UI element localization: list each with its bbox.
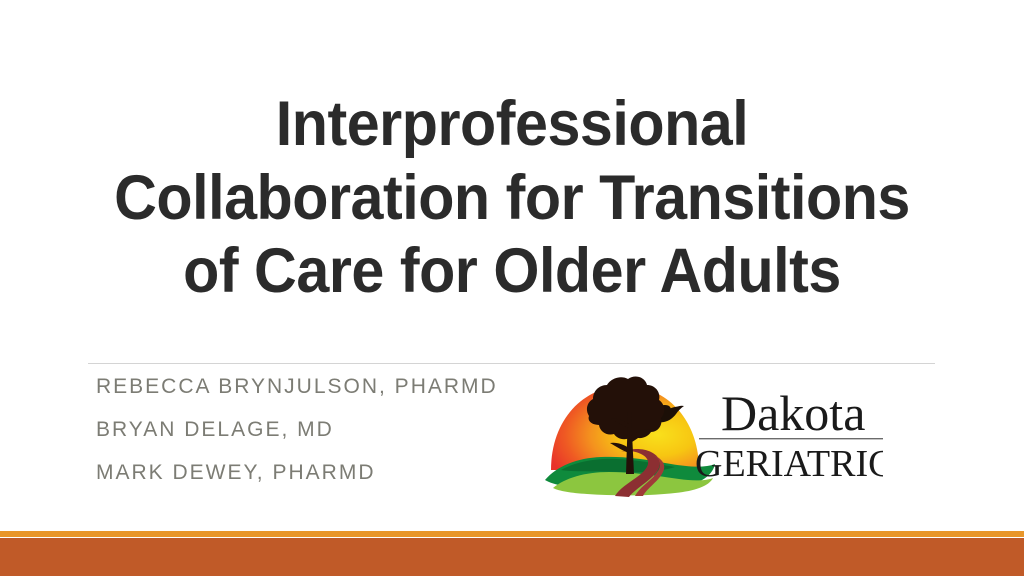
dakota-geriatrics-logo: Dakota GERIATRICS	[543, 372, 883, 497]
footer-accent-stripe	[0, 531, 1024, 537]
title-line-1: Interprofessional	[276, 89, 748, 159]
list-item: BRYAN DELAGE, MD	[96, 419, 526, 440]
title-line-3: of Care for Older Adults	[183, 236, 841, 306]
logo-wordmark-primary: Dakota	[721, 385, 865, 441]
footer-band	[0, 538, 1024, 576]
presenter-list: REBECCA BRYNJULSON, PHARMD BRYAN DELAGE,…	[96, 376, 526, 483]
title-block: Interprofessional Collaboration for Tran…	[88, 88, 936, 309]
list-item: MARK DEWEY, PHARMD	[96, 462, 526, 483]
title-line-2: Collaboration for Transitions	[114, 163, 910, 233]
logo-wordmark-rule	[699, 438, 883, 439]
presentation-slide: Interprofessional Collaboration for Tran…	[0, 0, 1024, 576]
logo-wordmark-secondary: GERIATRICS	[695, 443, 883, 485]
page-title: Interprofessional Collaboration for Tran…	[113, 88, 910, 309]
subtitle-area: REBECCA BRYNJULSON, PHARMD BRYAN DELAGE,…	[88, 372, 936, 502]
divider-rule	[88, 363, 935, 364]
list-item: REBECCA BRYNJULSON, PHARMD	[96, 376, 526, 397]
